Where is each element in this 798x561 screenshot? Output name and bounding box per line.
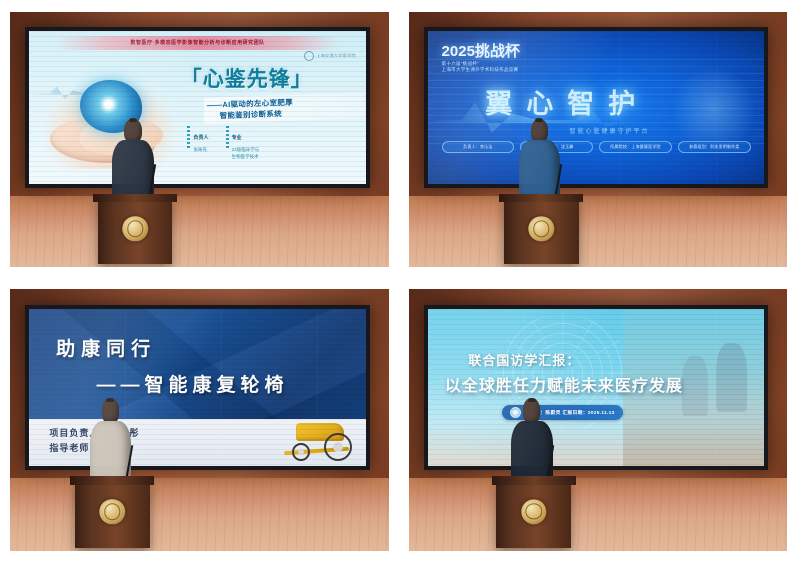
slide-2: 2025挑战杯 第十六届"挑战杯" 上海市大学生课外学术科技作品竞赛 翼心智护 … (428, 31, 764, 184)
podium (98, 198, 173, 264)
slide-1-meta-owner: 负责人 张咏先 (187, 126, 208, 161)
slide-1-org-logo: 上海交通大学医学院 (304, 51, 356, 61)
speaker-group-1 (86, 124, 185, 267)
slide-2-badge-category: 参赛组别：科技发明制作类 (678, 141, 751, 153)
slide-1-meta-major: 专业 22级临床学与 生物医学技术 (226, 126, 260, 161)
collage-cell-1: 数智医疗·多模态医学影像智能分析与诊断应用研究团队 上海交通大学医学院 (0, 0, 399, 281)
slide-4-title-line2: 以全球胜任力赋能未来医疗发展 (445, 372, 683, 396)
slide-1-meta-owner-value: 张咏先 (193, 147, 208, 154)
stage-floor (409, 196, 787, 267)
slide-1-subtitle-box: ——AI驱动的左心室肥厚 智能鉴别诊断系统 (204, 93, 366, 125)
slide-3-title-line2: ——智能康复轮椅 (97, 370, 289, 397)
collage-cell-4: 联合国访学汇报： 以全球胜任力赋能未来医疗发展 汇报人：陈蔚灵 汇报日期：202… (399, 281, 798, 561)
slide-1: 数智医疗·多模态医学影像智能分析与诊断应用研究团队 上海交通大学医学院 (29, 31, 366, 184)
led-screen-frame-1: 数智医疗·多模态医学影像智能分析与诊断应用研究团队 上海交通大学医学院 (25, 27, 370, 188)
university-crest-icon (521, 499, 546, 524)
speaker-head (102, 398, 119, 423)
slide-1-org-name: 上海交通大学医学院 (316, 53, 356, 59)
slide-2-header: 2025挑战杯 第十六届"挑战杯" 上海市大学生课外学术科技作品竞赛 (442, 40, 520, 73)
speaker-group-4 (485, 404, 583, 551)
speaker-hair (535, 118, 543, 122)
slide-1-banner-text: 数智医疗·多模态医学影像智能分析与诊断应用研究团队 (130, 39, 264, 46)
stage-floor (409, 478, 787, 551)
photo-panel-1: 数智医疗·多模态医学影像智能分析与诊断应用研究团队 上海交通大学医学院 (10, 12, 389, 267)
led-screen-frame-4: 联合国访学汇报： 以全球胜任力赋能未来医疗发展 汇报人：陈蔚灵 汇报日期：202… (424, 305, 768, 470)
podium (75, 481, 150, 548)
collage-cell-2: 2025挑战杯 第十六届"挑战杯" 上海市大学生课外学术科技作品竞赛 翼心智护 … (399, 0, 798, 281)
podium-top (492, 476, 576, 485)
photo-collage: 数智医疗·多模态医学影像智能分析与诊断应用研究团队 上海交通大学医学院 (0, 0, 798, 561)
university-logo-icon (304, 51, 314, 61)
university-crest-icon (100, 499, 125, 524)
wheelchair-product-image (268, 421, 356, 462)
speaker-hair (106, 398, 114, 402)
photo-panel-3: 助康同行 ——智能康复轮椅 项目负责人：吴子彤 指导老师：李建华 (10, 289, 389, 551)
podium (504, 198, 579, 264)
auditorium-room-1: 数智医疗·多模态医学影像智能分析与诊断应用研究团队 上海交通大学医学院 (10, 12, 389, 267)
slide-2-badge-row: 负责人：李沁洁 指导教师：沈玉峰 所属院校：上海健康医学院 参赛组别：科技发明制… (442, 141, 751, 153)
university-crest-icon (122, 216, 147, 241)
led-screen-1: 数智医疗·多模态医学影像智能分析与诊断应用研究团队 上海交通大学医学院 (29, 31, 366, 184)
photo-panel-4: 联合国访学汇报： 以全球胜任力赋能未来医疗发展 汇报人：陈蔚灵 汇报日期：202… (409, 289, 787, 551)
university-crest-icon (529, 216, 554, 241)
slide-1-meta-major-value: 22级临床学与 生物医学技术 (232, 147, 260, 161)
slide-2-badge-school: 所属院校：上海健康医学院 (599, 141, 672, 153)
led-screen-2: 2025挑战杯 第十六届"挑战杯" 上海市大学生课外学术科技作品竞赛 翼心智护 … (428, 31, 764, 184)
led-screen-4: 联合国访学汇报： 以全球胜任力赋能未来医疗发展 汇报人：陈蔚灵 汇报日期：202… (428, 309, 764, 466)
slide-2-calligraphy-title: 翼心智护 (485, 82, 727, 121)
speaker-group-3 (63, 404, 162, 551)
slide-3-title-line1: 助康同行 (56, 334, 156, 361)
speaker-hair (528, 398, 536, 402)
speaker-hair (129, 118, 137, 122)
wheelchair-wheel-small (292, 443, 310, 461)
slide-1-meta-major-label: 专业 (232, 135, 242, 141)
slide-2-header-title: 2025挑战杯 (442, 40, 520, 61)
collage-cell-3: 助康同行 ——智能康复轮椅 项目负责人：吴子彤 指导老师：李建华 (0, 281, 399, 561)
podium-top (70, 476, 154, 485)
auditorium-room-2: 2025挑战杯 第十六届"挑战杯" 上海市大学生课外学术科技作品竞赛 翼心智护 … (409, 12, 787, 267)
slide-1-title: 「心鉴先锋」 (181, 63, 360, 93)
backdrop-figure-1 (716, 343, 747, 412)
auditorium-room-3: 助康同行 ——智能康复轮椅 项目负责人：吴子彤 指导老师：李建华 (10, 289, 389, 551)
meta-bar-icon (226, 126, 229, 148)
photo-panel-2: 2025挑战杯 第十六届"挑战杯" 上海市大学生课外学术科技作品竞赛 翼心智护 … (409, 12, 787, 267)
speaker-group-2 (492, 124, 590, 267)
slide-4-title-line1: 联合国访学汇报： (468, 350, 580, 369)
slide-2-header-line2: 上海市大学生课外学术科技作品竞赛 (442, 67, 520, 73)
meta-bar-icon (187, 126, 190, 148)
slide-4: 联合国访学汇报： 以全球胜任力赋能未来医疗发展 汇报人：陈蔚灵 汇报日期：202… (428, 309, 764, 466)
speaker-head (523, 398, 540, 423)
slide-1-meta-owner-label: 负责人 (193, 135, 208, 141)
backdrop-figure-2 (682, 356, 707, 416)
podium (496, 481, 571, 548)
slide-1-meta-row: 负责人 张咏先 专业 22级临床学与 生物医学技术 (187, 126, 359, 161)
led-screen-frame-2: 2025挑战杯 第十六届"挑战杯" 上海市大学生课外学术科技作品竞赛 翼心智护 … (424, 27, 768, 188)
auditorium-room-4: 联合国访学汇报： 以全球胜任力赋能未来医疗发展 汇报人：陈蔚灵 汇报日期：202… (409, 289, 787, 551)
slide-1-banner: 数智医疗·多模态医学影像智能分析与诊断应用研究团队 (56, 36, 339, 50)
wheelchair-wheel-large (324, 433, 353, 462)
stage-floor (10, 196, 389, 267)
podium-top (93, 194, 177, 203)
podium-top (499, 194, 583, 203)
